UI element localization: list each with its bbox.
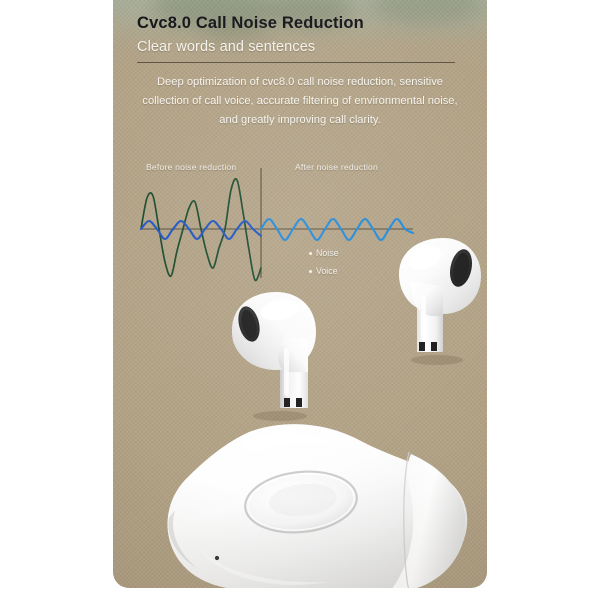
legend-label: Noise: [316, 248, 339, 258]
charging-case: [153, 418, 473, 588]
bullet-icon: [309, 270, 312, 273]
legend-item-noise: Noise: [309, 248, 339, 258]
noise-waveform: [141, 179, 261, 281]
chart-legend: Noise Voice: [309, 248, 339, 276]
product-panel: Cvc8.0 Call Noise Reduction Clear words …: [113, 0, 487, 588]
header-divider: [137, 62, 455, 63]
led-indicator-icon: [215, 556, 219, 560]
legend-item-voice: Voice: [309, 266, 339, 276]
page-subtitle: Clear words and sentences: [137, 38, 465, 56]
header-block: Cvc8.0 Call Noise Reduction Clear words …: [113, 0, 487, 131]
right-earbud: [381, 236, 487, 371]
bullet-icon: [309, 252, 312, 255]
description-paragraph: Deep optimization of cvc8.0 call noise r…: [141, 73, 459, 131]
left-earbud: [218, 286, 343, 426]
legend-label: Voice: [316, 266, 338, 276]
page-title: Cvc8.0 Call Noise Reduction: [137, 14, 465, 34]
product-image: Cvc8.0 Call Noise Reduction Clear words …: [0, 0, 600, 600]
